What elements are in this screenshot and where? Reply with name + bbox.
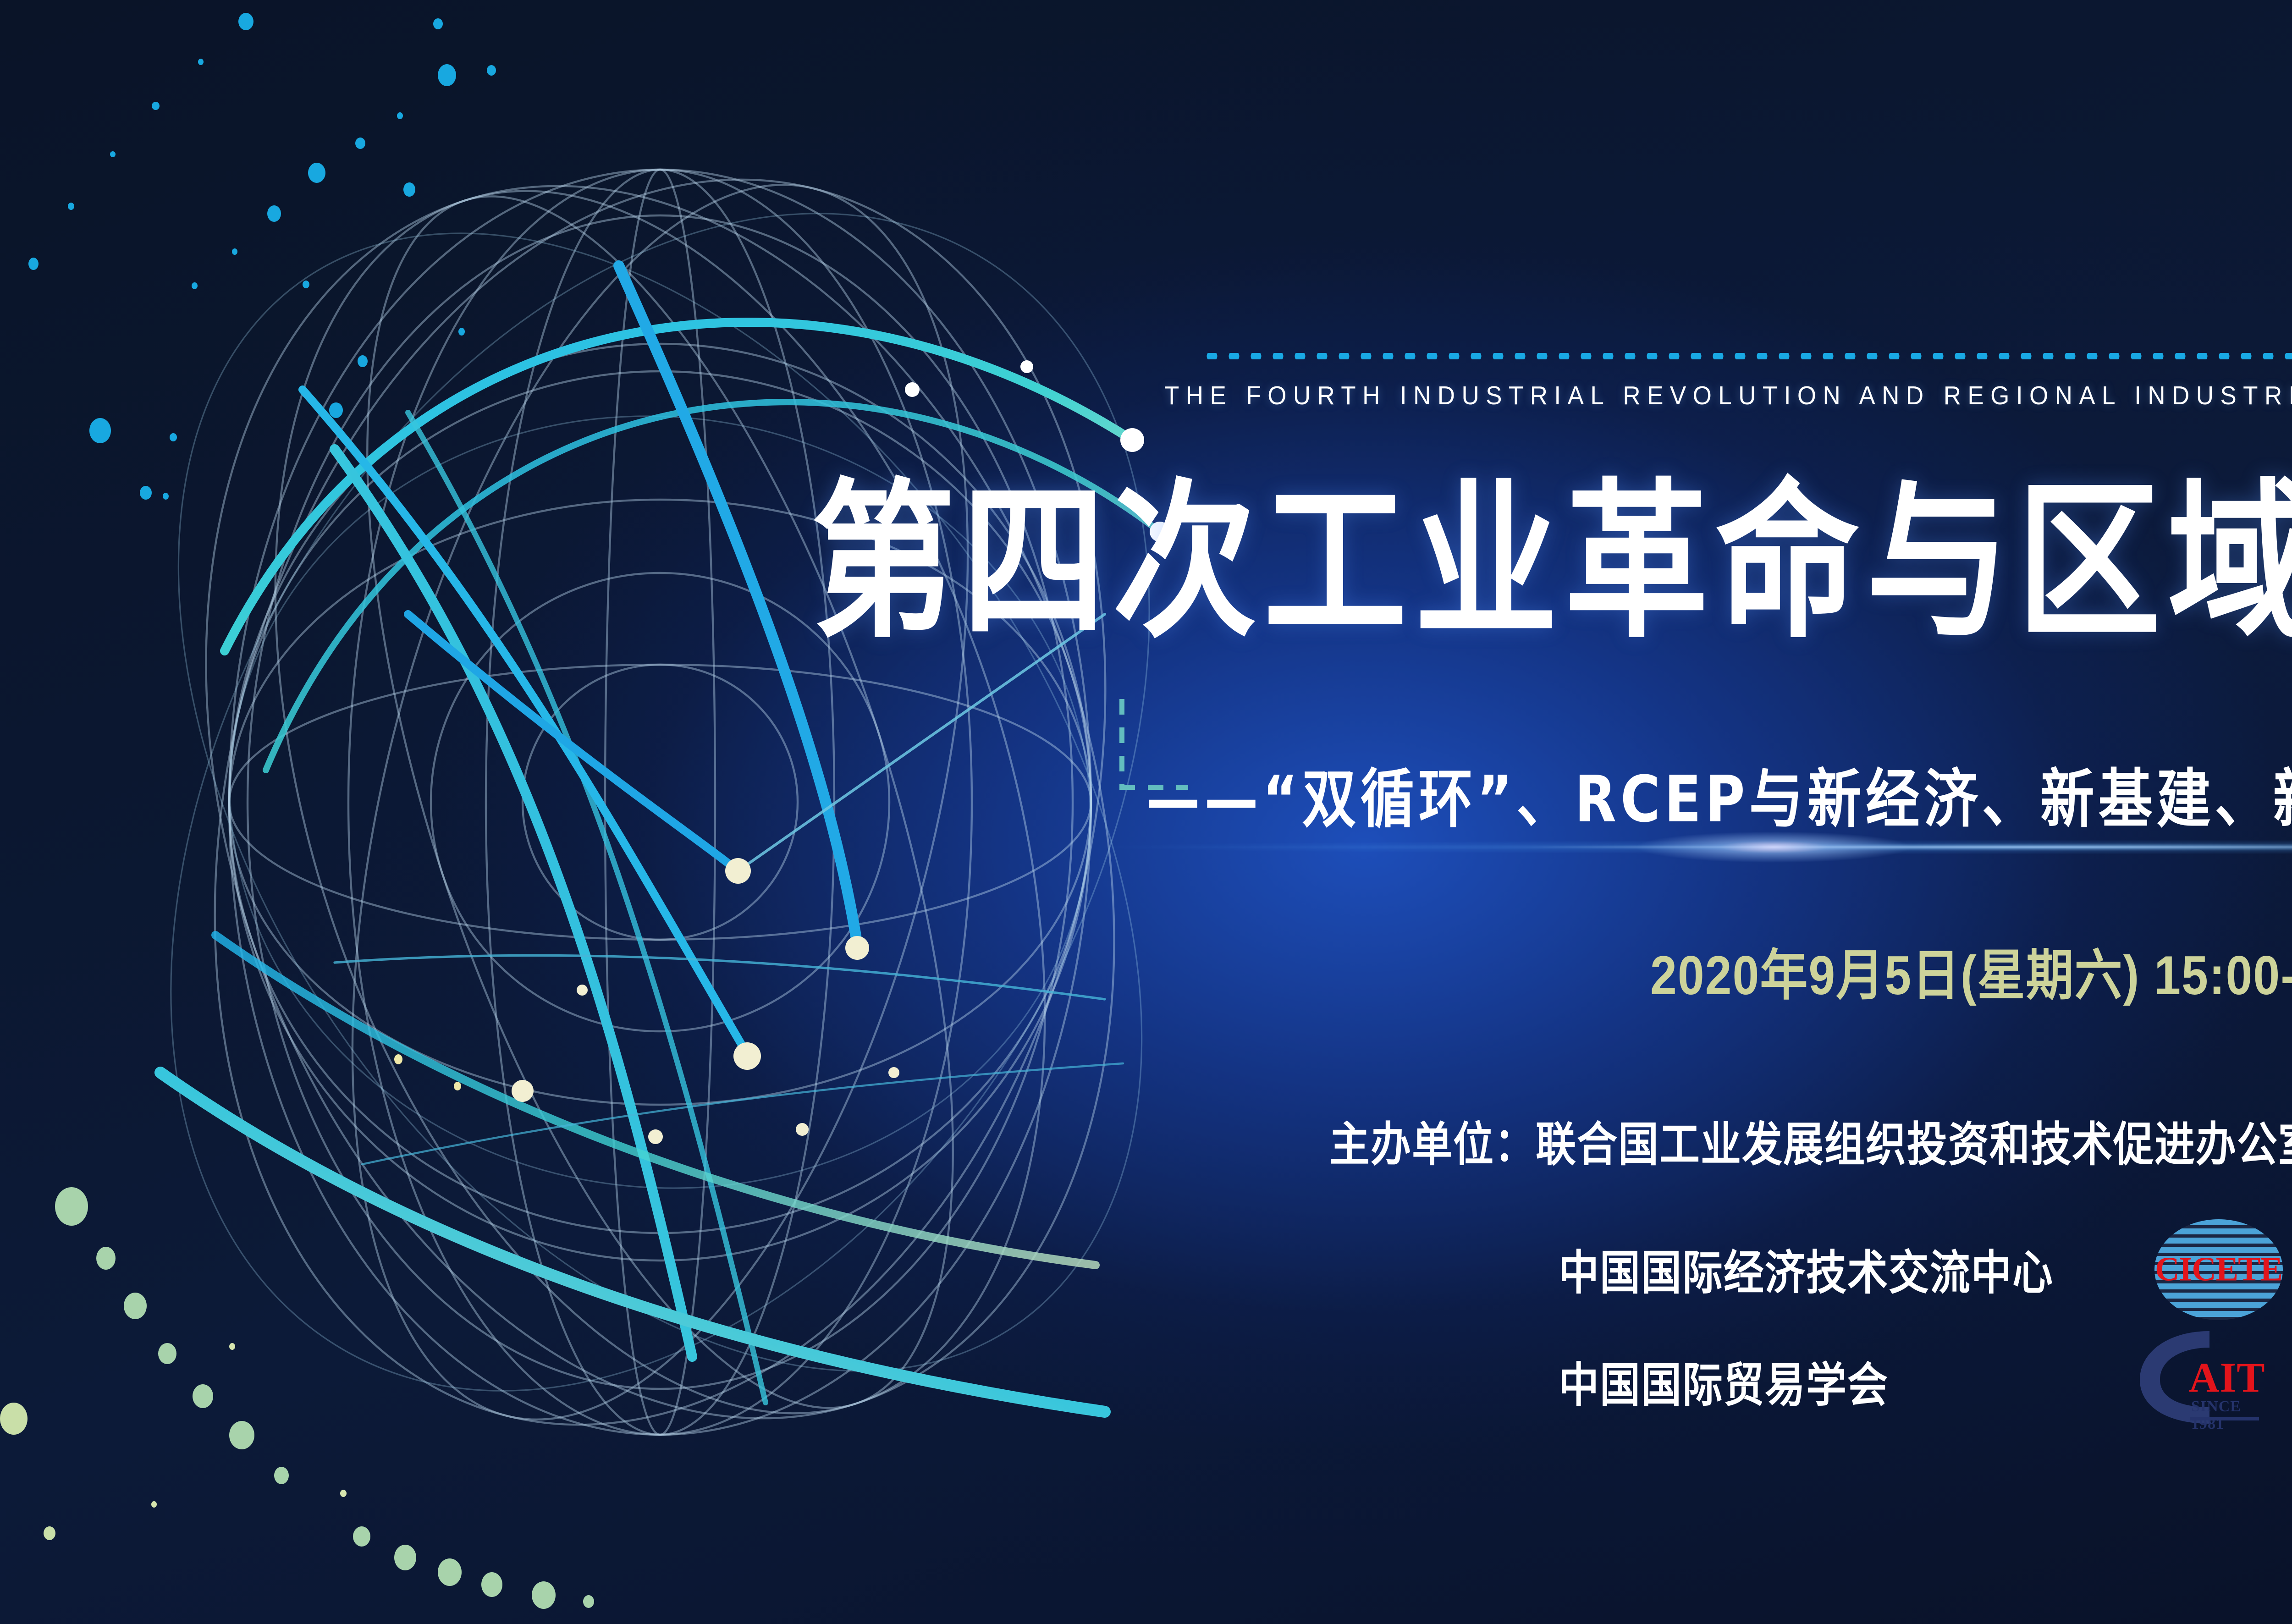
decorative-dot — [397, 112, 403, 119]
decorative-dot — [68, 203, 74, 210]
globe-wireframe-graphic — [105, 138, 1215, 1467]
decorative-dot — [583, 1595, 594, 1608]
decorative-dot — [394, 1054, 402, 1064]
cicete-logo: CICETE — [2154, 1219, 2283, 1320]
decorative-dot — [89, 418, 111, 443]
decorative-dot — [158, 1343, 176, 1364]
decorative-dot — [438, 64, 456, 86]
decorative-dot — [44, 1526, 55, 1540]
cicete-wordmark: CICETE — [2154, 1250, 2283, 1289]
ait-wordmark: AIT — [2189, 1353, 2265, 1402]
decorative-dot — [193, 1384, 213, 1408]
decorative-dot — [355, 138, 365, 149]
decorative-dot — [198, 59, 204, 65]
decorative-dot — [340, 1490, 347, 1497]
event-title: 第四次工业革命与区域产业链合作 — [811, 474, 2292, 650]
decorative-dot — [28, 258, 39, 270]
decorative-dot — [110, 151, 116, 157]
decorative-dot — [487, 65, 496, 76]
event-subtitle: ——“双循环”、RCEP与新经济、新基建、新机遇 — [1146, 747, 2292, 840]
ait-logo: AIT SINCE 1981 — [2136, 1329, 2274, 1430]
organizer-line-1: 主办单位：联合国工业发展组织投资和技术促进办公室(中国·北京) — [1329, 1107, 2292, 1174]
organizer-line-2: 中国国际经济技术交流中心 — [1559, 1235, 2054, 1303]
decorative-dot — [152, 102, 160, 110]
decorative-dot — [55, 1187, 88, 1226]
decorative-dot — [238, 13, 253, 30]
decorative-dot — [229, 1421, 254, 1449]
decorative-dot — [0, 1403, 28, 1435]
decorative-dot — [481, 1572, 502, 1597]
decorative-dot — [458, 328, 465, 336]
organizer-line-3: 中国国际贸易学会 — [1559, 1348, 1889, 1415]
light-flare-streak — [1091, 838, 2292, 856]
decorative-dot — [140, 486, 152, 500]
decorative-dot — [433, 18, 443, 29]
tagline-dotted-rule — [1201, 353, 2292, 359]
event-tagline: THE FOURTH INDUSTRIAL REVOLUTION AND REG… — [1164, 380, 2292, 411]
decorative-dot — [274, 1467, 289, 1484]
decorative-dot — [151, 1501, 157, 1508]
decorative-dot — [229, 1343, 235, 1350]
decorative-dot — [192, 282, 198, 289]
decorative-dot — [358, 355, 368, 367]
ait-underline — [2190, 1417, 2259, 1420]
decorative-dot — [403, 182, 415, 197]
decorative-dot — [232, 248, 237, 255]
decorative-dot — [532, 1581, 556, 1609]
decorative-dot — [124, 1293, 147, 1319]
decorative-dot — [329, 402, 343, 418]
bracket-left-dash — [1119, 699, 1124, 788]
decorative-dot — [353, 1526, 370, 1547]
decorative-dot — [267, 205, 281, 222]
decorative-dot — [454, 1082, 461, 1090]
event-poster: 中国国际服务贸易交易会 CHINA INTERNATIONAL FAIR FOR… — [0, 0, 2292, 1624]
decorative-dot — [303, 281, 309, 288]
decorative-dot — [308, 163, 325, 183]
decorative-dot — [170, 433, 177, 441]
decorative-dot — [163, 493, 169, 500]
decorative-dot — [394, 1545, 416, 1570]
ait-since: SINCE 1981 — [2191, 1398, 2274, 1433]
event-datetime: 2020年9月5日(星期六) 15:00-17:00 — [1650, 930, 2292, 1010]
decorative-dot — [96, 1247, 116, 1270]
decorative-dot — [438, 1558, 462, 1586]
